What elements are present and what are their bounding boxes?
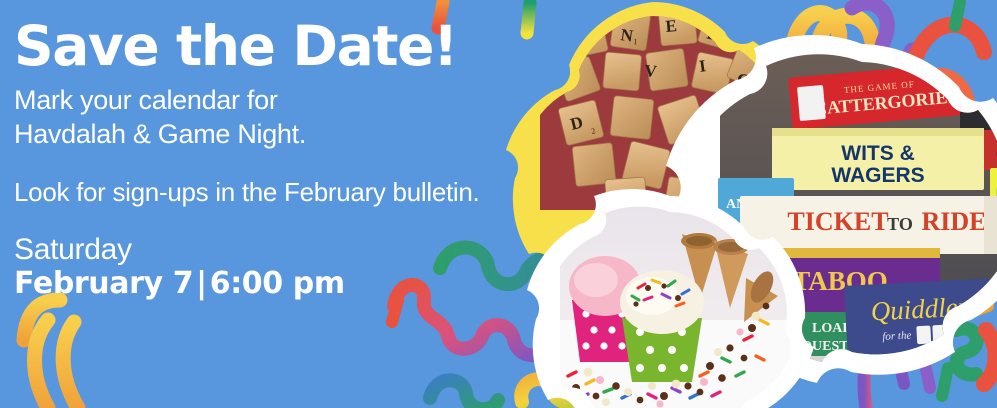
svg-text:WAGERS: WAGERS <box>831 164 924 187</box>
event-day: Saturday <box>14 233 574 267</box>
svg-text:TO: TO <box>887 214 913 234</box>
signup-callout: Look for sign-ups in the February bullet… <box>14 177 574 208</box>
save-the-date-banner: O N E R V V I C D E T 2 1 <box>0 0 997 408</box>
svg-text:RIDE: RIDE <box>921 207 986 236</box>
svg-text:for the: for the <box>882 329 912 343</box>
event-date: February 7 <box>14 266 193 301</box>
svg-text:V: V <box>644 61 659 81</box>
subheading-line-1: Mark your calendar for <box>14 84 574 117</box>
banner-text-block: Save the Date! Mark your calendar for Ha… <box>14 18 574 300</box>
event-date-time: February 7|6:00 pm <box>14 267 574 301</box>
subheading-line-2: Havdalah & Game Night. <box>14 118 574 151</box>
event-time: 6:00 pm <box>210 266 345 301</box>
page-title: Save the Date! <box>14 18 574 74</box>
svg-text:WITS &: WITS & <box>841 142 915 165</box>
svg-text:of words: of words <box>952 327 990 341</box>
event-separator: | <box>193 266 210 301</box>
svg-text:TICKET: TICKET <box>787 207 888 236</box>
ice-cream-cup-green <box>620 270 704 382</box>
